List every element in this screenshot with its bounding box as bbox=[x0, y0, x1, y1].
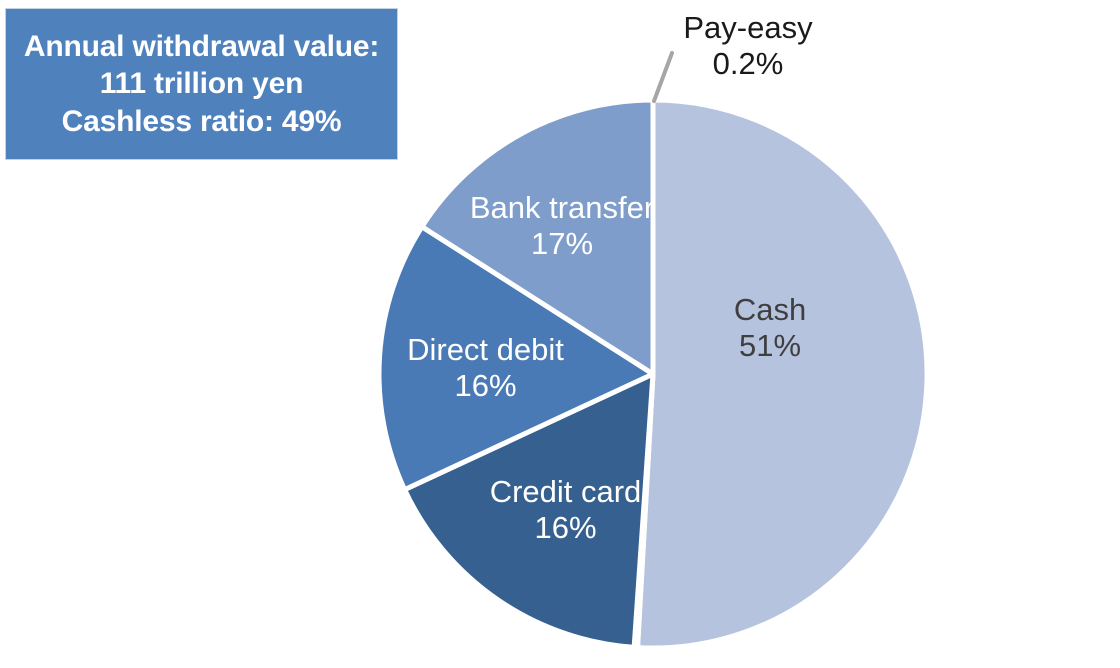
chart-canvas: Annual withdrawal value: 111 trillion ye… bbox=[0, 0, 1120, 668]
pie-slice-cash[interactable] bbox=[638, 100, 928, 648]
pay-easy-leader-line bbox=[654, 53, 672, 101]
pie-chart: Cash 51% Pay-easy 0.2% Bank transfer 17%… bbox=[0, 0, 1120, 668]
pie-chart-svg bbox=[0, 0, 1120, 668]
pie-slice-group bbox=[379, 100, 927, 648]
